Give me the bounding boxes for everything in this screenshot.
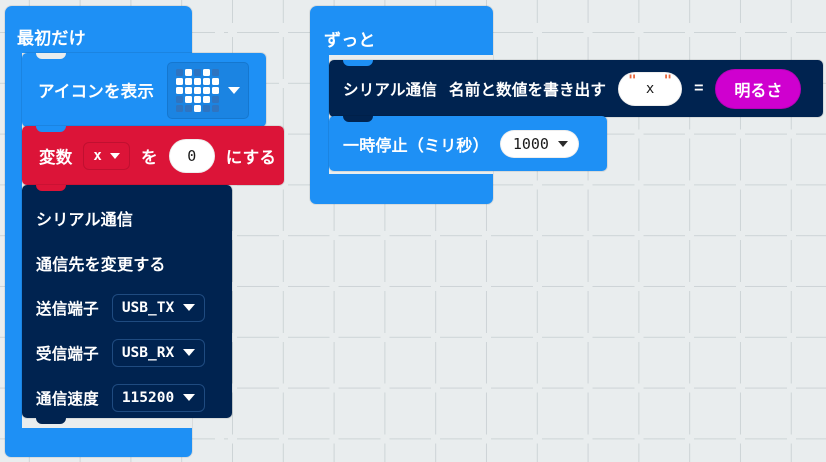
show-icon-body[interactable]: アイコンを表示 bbox=[22, 53, 266, 127]
led-cell-1-0 bbox=[176, 78, 183, 85]
forever-label: ずっと bbox=[324, 26, 376, 51]
led-cell-2-1 bbox=[185, 87, 192, 94]
led-cell-0-4 bbox=[212, 69, 219, 76]
led-cell-0-3 bbox=[203, 69, 210, 76]
led-cell-3-3 bbox=[203, 96, 210, 103]
led-cell-3-1 bbox=[185, 96, 192, 103]
led-cell-1-2 bbox=[194, 78, 201, 85]
chevron-down-icon[interactable] bbox=[183, 304, 195, 311]
led-cell-3-2 bbox=[194, 96, 201, 103]
quote-right-icon: " bbox=[664, 73, 672, 89]
chevron-down-icon[interactable] bbox=[183, 349, 195, 356]
on-start-label: 最初だけ bbox=[17, 24, 86, 49]
serial-tx-row[interactable]: 送信端子 USB_TX bbox=[22, 285, 232, 330]
chevron-down-icon[interactable] bbox=[183, 394, 195, 401]
quote-left-icon: " bbox=[628, 73, 636, 89]
led-cell-1-4 bbox=[212, 78, 219, 85]
led-cell-0-0 bbox=[176, 69, 183, 76]
pause-duration-dropdown[interactable]: 1000 bbox=[500, 130, 579, 158]
block-bump bbox=[36, 418, 66, 424]
set-variable-label-prefix: 変数 bbox=[39, 144, 72, 168]
chevron-down-icon[interactable] bbox=[110, 153, 120, 159]
serial-baud-value: 115200 bbox=[122, 390, 174, 406]
led-cell-4-3 bbox=[203, 105, 210, 112]
block-notch bbox=[36, 185, 66, 191]
led-cell-4-4 bbox=[212, 105, 219, 112]
led-cell-2-3 bbox=[203, 87, 210, 94]
serial-tx-value: USB_TX bbox=[122, 300, 174, 316]
led-cell-3-0 bbox=[176, 96, 183, 103]
serial-rx-row[interactable]: 受信端子 USB_RX bbox=[22, 330, 232, 375]
led-cell-1-3 bbox=[203, 78, 210, 85]
serial-baud-label: 通信速度 bbox=[36, 387, 99, 409]
led-cell-2-4 bbox=[212, 87, 219, 94]
serial-rx-label: 受信端子 bbox=[36, 342, 99, 364]
show-icon-block[interactable]: アイコンを表示 bbox=[22, 53, 266, 127]
blocks-workspace[interactable]: 最初だけ アイコンを表示 変数 x を 0 にする bbox=[0, 0, 826, 462]
serial-write-value-label: 名前と数値を書き出す bbox=[449, 78, 606, 100]
set-variable-block[interactable]: 変数 x を 0 にする bbox=[22, 126, 284, 185]
led-cell-0-2 bbox=[194, 69, 201, 76]
serial-rx-dropdown[interactable]: USB_RX bbox=[112, 339, 205, 367]
set-variable-body[interactable]: 変数 x を 0 にする bbox=[22, 126, 284, 185]
serial-category-label: シリアル通信 bbox=[36, 206, 133, 230]
serial-write-value-block[interactable]: シリアル通信 名前と数値を書き出す " x " = 明るさ bbox=[329, 60, 823, 117]
led-cell-4-2 bbox=[194, 105, 201, 112]
chevron-down-icon[interactable] bbox=[228, 87, 240, 94]
led-cell-0-1 bbox=[185, 69, 192, 76]
serial-category-label: シリアル通信 bbox=[343, 78, 437, 100]
light-level-reporter[interactable]: 明るさ bbox=[715, 69, 801, 109]
pause-duration-value: 1000 bbox=[513, 135, 549, 153]
block-notch bbox=[343, 60, 373, 66]
pause-label: 一時停止（ミリ秒） bbox=[343, 132, 489, 156]
set-variable-label-mid: を bbox=[141, 144, 158, 168]
led-cell-2-2 bbox=[194, 87, 201, 94]
block-notch bbox=[36, 53, 66, 59]
led-cell-2-0 bbox=[176, 87, 183, 94]
show-icon-label: アイコンを表示 bbox=[38, 78, 154, 102]
serial-name-input[interactable]: " x " bbox=[618, 72, 682, 106]
serial-write-value-body[interactable]: シリアル通信 名前と数値を書き出す " x " = 明るさ bbox=[329, 60, 823, 117]
chevron-down-icon[interactable] bbox=[558, 141, 568, 147]
serial-name-value: x bbox=[646, 81, 654, 97]
led-cell-4-0 bbox=[176, 105, 183, 112]
led-matrix-heart[interactable] bbox=[167, 62, 249, 119]
pause-block[interactable]: 一時停止（ミリ秒） 1000 bbox=[329, 116, 607, 171]
set-variable-label-suffix: にする bbox=[226, 144, 276, 168]
serial-redirect-label: 通信先を変更する bbox=[36, 251, 166, 275]
variable-name-dropdown[interactable]: x bbox=[83, 142, 130, 170]
serial-panel-title-row: シリアル通信 bbox=[22, 195, 232, 240]
pause-body[interactable]: 一時停止（ミリ秒） 1000 bbox=[329, 116, 607, 171]
serial-redirect-body[interactable]: シリアル通信 通信先を変更する 送信端子 USB_TX 受信端子 USB_RX bbox=[22, 185, 232, 418]
serial-tx-dropdown[interactable]: USB_TX bbox=[112, 294, 205, 322]
led-cell-1-1 bbox=[185, 78, 192, 85]
serial-rx-value: USB_RX bbox=[122, 345, 174, 361]
led-cell-4-1 bbox=[185, 105, 192, 112]
serial-baud-row[interactable]: 通信速度 115200 bbox=[22, 375, 232, 420]
serial-panel-subtitle-row: 通信先を変更する bbox=[22, 240, 232, 285]
serial-redirect-panel[interactable]: シリアル通信 通信先を変更する 送信端子 USB_TX 受信端子 USB_RX bbox=[22, 185, 232, 418]
led-cell-3-4 bbox=[212, 96, 219, 103]
serial-baud-dropdown[interactable]: 115200 bbox=[112, 384, 205, 412]
serial-tx-label: 送信端子 bbox=[36, 297, 99, 319]
block-notch bbox=[343, 116, 373, 122]
variable-name-value: x bbox=[93, 148, 102, 164]
variable-value-input[interactable]: 0 bbox=[169, 139, 215, 173]
led-matrix-grid bbox=[176, 69, 219, 112]
block-notch bbox=[36, 126, 66, 132]
equals-label: = bbox=[694, 80, 703, 98]
